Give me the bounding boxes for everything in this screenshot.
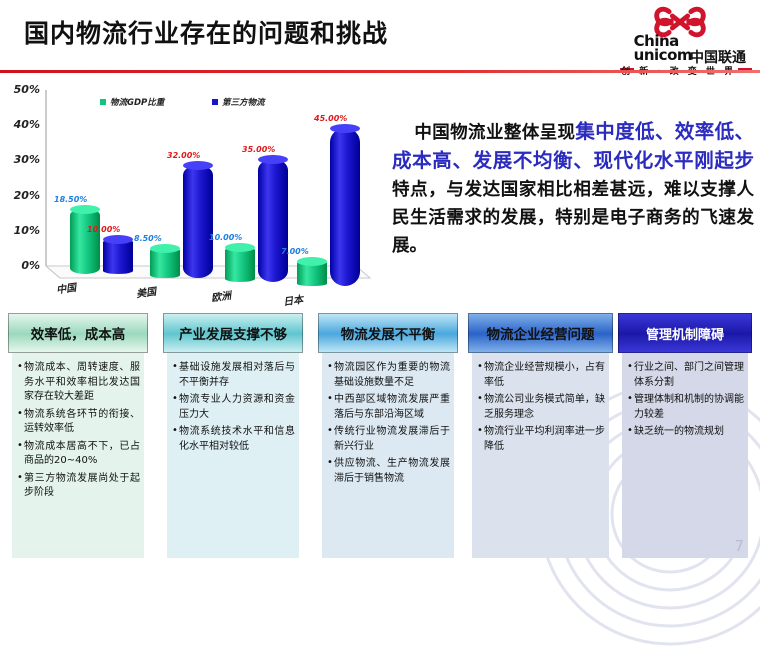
bar-美国-gdp: [150, 248, 180, 278]
problem-item: 中西部区域物流发展严重落后与东部沿海区域: [327, 393, 450, 422]
problem-item: 物流系统技术水平和信息化水平相对较低: [172, 425, 295, 454]
bar-中国-third-party: [103, 239, 133, 274]
legend-label-1: 第三方物流: [222, 96, 265, 108]
bar-cap: [330, 124, 360, 133]
problem-item: 传统行业物流发展滞后于新兴行业: [327, 425, 450, 454]
problem-item: 基础设施发展相对落后与不平衡并存: [172, 361, 295, 390]
x-label-日本: 日本: [282, 291, 304, 309]
problem-box-2[interactable]: 产业发展支撑不够基础设施发展相对落后与不平衡并存物流专业人力资源和资金压力大物流…: [163, 313, 303, 558]
bar-日本-gdp: [297, 261, 327, 286]
problem-box-header-3[interactable]: 物流发展不平衡: [318, 313, 458, 353]
problem-box-body-3: 物流园区作为重要的物流基础设施数量不足中西部区域物流发展严重落后与东部沿海区域传…: [322, 353, 454, 558]
problem-item: 物流系统各环节的衔接、运转效率低: [17, 408, 140, 437]
problem-item: 物流行业平均利润率进一步降低: [477, 425, 605, 454]
bar-label-欧洲-third-party: 35.00%: [242, 145, 275, 154]
bar-label-日本-gdp: 7.00%: [281, 247, 309, 256]
legend-label-0: 物流GDP比重: [110, 96, 164, 108]
bar-日本-third-party: [330, 128, 360, 286]
bar-label-日本-third-party: 45.00%: [314, 114, 347, 123]
bar-cap: [225, 243, 255, 252]
x-label-中国: 中国: [55, 279, 77, 297]
problem-box-body-2: 基础设施发展相对落后与不平衡并存物流专业人力资源和资金压力大物流系统技术水平和信…: [167, 353, 299, 558]
problem-box-body-5: 行业之间、部门之间管理体系分割管理体制和机制的协调能力较差缺乏统一的物流规划: [622, 353, 748, 558]
x-label-美国: 美国: [135, 283, 157, 301]
legend-swatch-1: [212, 99, 218, 105]
bar-cap: [150, 244, 180, 253]
x-label-欧洲: 欧洲: [210, 287, 232, 305]
problem-item: 管理体制和机制的协调能力较差: [627, 393, 744, 422]
y-tick-5: 0%: [2, 259, 40, 272]
bar-label-美国-gdp: 8.50%: [134, 234, 162, 243]
page-number: 7: [734, 537, 744, 555]
bar-cap: [183, 161, 213, 170]
y-tick-1: 40%: [2, 118, 40, 131]
header-divider: [0, 70, 760, 73]
problem-item: 物流公司业务模式简单，缺乏服务理念: [477, 393, 605, 422]
problem-box-header-1[interactable]: 效率低，成本高: [8, 313, 148, 353]
bar-美国-third-party: [183, 165, 213, 278]
bar-label-中国-third-party: 10.00%: [87, 225, 120, 234]
y-tick-0: 50%: [2, 83, 40, 96]
problem-box-title-3: 物流发展不平衡: [341, 323, 436, 343]
problem-item: 供应物流、生产物流发展滞后于销售物流: [327, 457, 450, 486]
problem-box-title-4: 物流企业经营问题: [487, 323, 595, 343]
bar-label-欧洲-gdp: 10.00%: [209, 233, 242, 242]
chart-legend: 物流GDP比重 第三方物流: [100, 96, 315, 110]
y-tick-3: 20%: [2, 189, 40, 202]
summary-paragraph: 中国物流业整体呈现集中度低、效率低、成本高、发展不均衡、现代化水平刚起步特点，与…: [392, 118, 754, 260]
bar-label-中国-gdp: 18.50%: [54, 195, 87, 204]
problem-item: 物流专业人力资源和资金压力大: [172, 393, 295, 422]
bar-cap: [103, 235, 133, 244]
bar-欧洲-gdp: [225, 247, 255, 282]
problem-box-1[interactable]: 效率低，成本高物流成本、周转速度、服务水平和效率相比发达国家存在较大差距物流系统…: [8, 313, 148, 558]
problem-item: 物流园区作为重要的物流基础设施数量不足: [327, 361, 450, 390]
problem-box-3[interactable]: 物流发展不平衡物流园区作为重要的物流基础设施数量不足中西部区域物流发展严重落后与…: [318, 313, 458, 558]
paragraph-part2: 特点，与发达国家相比相差甚远，难以支撑人民生活需求的发展，特别是电子商务的飞速发…: [392, 180, 754, 256]
page-title: 国内物流行业存在的问题和挑战: [24, 14, 388, 50]
problem-box-body-1: 物流成本、周转速度、服务水平和效率相比发达国家存在较大差距物流系统各环节的衔接、…: [12, 353, 144, 558]
problem-box-title-1: 效率低，成本高: [31, 323, 126, 343]
problem-item: 缺乏统一的物流规划: [627, 425, 744, 440]
bar-欧洲-third-party: [258, 159, 288, 282]
paragraph-part1: 中国物流业整体呈现: [414, 123, 575, 143]
bar-cap: [258, 155, 288, 164]
problem-item: 行业之间、部门之间管理体系分割: [627, 361, 744, 390]
problem-boxes: 效率低，成本高物流成本、周转速度、服务水平和效率相比发达国家存在较大差距物流系统…: [0, 313, 760, 563]
bar-中国-gdp: [70, 209, 100, 274]
problem-box-5[interactable]: 管理机制障碍行业之间、部门之间管理体系分割管理体制和机制的协调能力较差缺乏统一的…: [618, 313, 752, 558]
problem-box-header-4[interactable]: 物流企业经营问题: [468, 313, 613, 353]
slide-header: 国内物流行业存在的问题和挑战 China unicom 中国联通 创 新 · 改…: [0, 0, 760, 72]
y-tick-4: 10%: [2, 224, 40, 237]
problem-item: 第三方物流发展尚处于起步阶段: [17, 472, 140, 501]
logo-english-text: China unicom: [634, 34, 692, 63]
bar-cap: [70, 205, 100, 214]
y-tick-2: 30%: [2, 153, 40, 166]
problem-box-title-2: 产业发展支撑不够: [179, 323, 287, 343]
legend-swatch-0: [100, 99, 106, 105]
bar-cap: [297, 257, 327, 266]
problem-box-title-5: 管理机制障碍: [646, 324, 724, 343]
problem-box-header-2[interactable]: 产业发展支撑不够: [163, 313, 303, 353]
logistics-bar-chart: 50%40%30%20%10%0% 物流GDP比重 第三方物流 18.50%10…: [0, 78, 400, 306]
problem-box-header-5[interactable]: 管理机制障碍: [618, 313, 752, 353]
china-unicom-logo: China unicom 中国联通 创 新 · 改 变 世 界: [602, 2, 752, 72]
problem-item: 物流企业经营规模小，占有率低: [477, 361, 605, 390]
bar-label-美国-third-party: 32.00%: [167, 151, 200, 160]
problem-item: 物流成本居高不下，已占商品的20~40%: [17, 440, 140, 469]
problem-item: 物流成本、周转速度、服务水平和效率相比发达国家存在较大差距: [17, 361, 140, 405]
problem-box-body-4: 物流企业经营规模小，占有率低物流公司业务模式简单，缺乏服务理念物流行业平均利润率…: [472, 353, 609, 558]
problem-box-4[interactable]: 物流企业经营问题物流企业经营规模小，占有率低物流公司业务模式简单，缺乏服务理念物…: [468, 313, 613, 558]
